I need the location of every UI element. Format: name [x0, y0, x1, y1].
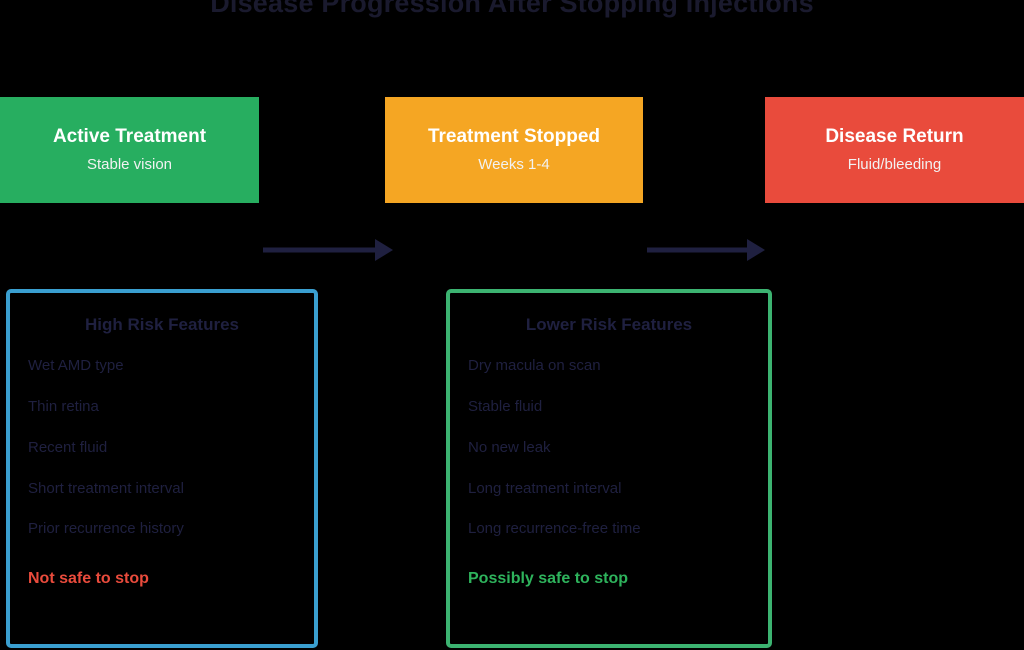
flow-box-active-treatment: Active Treatment Stable vision [0, 97, 259, 203]
page-title: Disease Progression After Stopping Injec… [0, 0, 1024, 19]
arrow-right-icon [643, 230, 779, 270]
flow-box-disease-return: Disease Return Fluid/bleeding [765, 97, 1024, 203]
flow-box-title: Treatment Stopped [428, 127, 600, 148]
flow-box-title: Active Treatment [53, 127, 206, 148]
panel-criteria-list: Wet AMD type Thin retina Recent fluid Sh… [28, 357, 296, 539]
panel-verdict: Not safe to stop [28, 569, 296, 588]
high-risk-panel: High Risk Features Wet AMD type Thin ret… [6, 289, 318, 648]
flow-box-treatment-stopped: Treatment Stopped Weeks 1-4 [385, 97, 643, 203]
panel-verdict: Possibly safe to stop [468, 569, 750, 588]
lower-risk-panel: Lower Risk Features Dry macula on scan S… [446, 289, 772, 648]
arrow-right-icon-svg [259, 230, 395, 270]
flow-box-subtitle: Stable vision [87, 157, 172, 174]
list-item: Short treatment interval [28, 480, 296, 499]
treatment-flow-row: Active Treatment Stable vision Treatment… [0, 97, 1024, 203]
list-item: Long recurrence-free time [468, 520, 750, 539]
arrow-right-icon [259, 230, 395, 270]
arrow-right-icon-svg [643, 230, 779, 270]
list-item: Stable fluid [468, 398, 750, 417]
panel-heading: Lower Risk Features [468, 315, 750, 335]
list-item: No new leak [468, 439, 750, 458]
panel-heading: High Risk Features [28, 315, 296, 335]
list-item: Prior recurrence history [28, 520, 296, 539]
list-item: Dry macula on scan [468, 357, 750, 376]
list-item: Thin retina [28, 398, 296, 417]
list-item: Long treatment interval [468, 480, 750, 499]
flow-box-subtitle: Weeks 1-4 [478, 157, 549, 174]
panel-criteria-list: Dry macula on scan Stable fluid No new l… [468, 357, 750, 539]
list-item: Wet AMD type [28, 357, 296, 376]
list-item: Recent fluid [28, 439, 296, 458]
flow-box-title: Disease Return [825, 127, 963, 148]
flow-box-subtitle: Fluid/bleeding [848, 157, 941, 174]
